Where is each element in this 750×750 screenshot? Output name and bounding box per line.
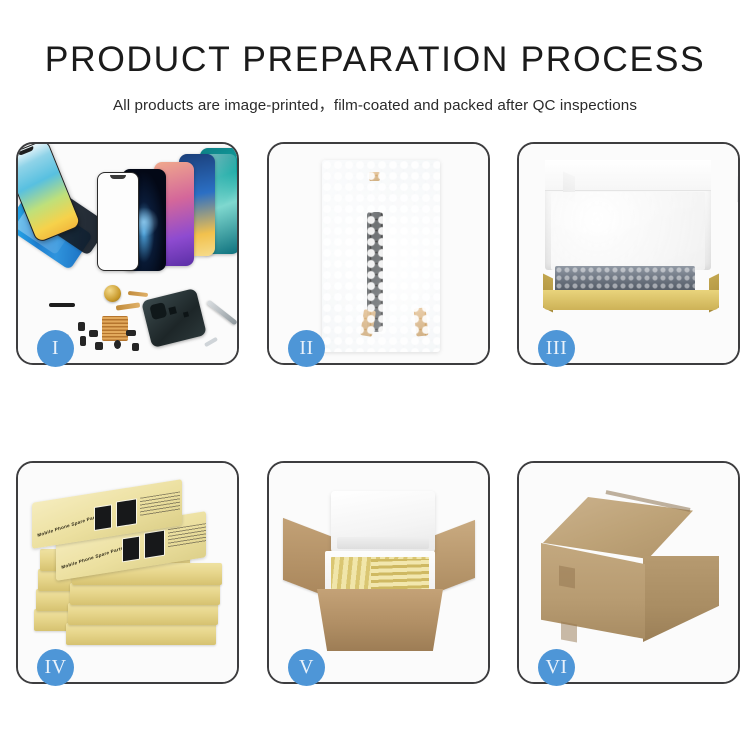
carton-body bbox=[317, 589, 443, 651]
box-screen-image bbox=[122, 536, 140, 563]
step-badge-2: II bbox=[288, 330, 325, 367]
step-badge-4: IV bbox=[37, 649, 74, 686]
small-part bbox=[126, 330, 136, 336]
box-screen-image bbox=[94, 504, 112, 531]
carton-side-face bbox=[643, 556, 719, 642]
small-part bbox=[80, 336, 86, 346]
screw-set-part bbox=[204, 337, 218, 347]
copper-mesh-part bbox=[102, 316, 128, 341]
box-screen-image bbox=[144, 530, 165, 559]
small-part bbox=[78, 322, 85, 331]
small-part bbox=[132, 343, 139, 351]
tweezers-tool-icon bbox=[206, 299, 237, 325]
box-front-panel bbox=[543, 290, 719, 310]
carton-tape-mark bbox=[561, 621, 577, 642]
box-spec-lines bbox=[140, 491, 180, 517]
earpiece-mesh-part bbox=[49, 303, 75, 307]
box-label-text: Mobile Phone Spare Parts bbox=[61, 545, 124, 569]
box-spec-lines bbox=[168, 523, 206, 549]
process-step-grid: I II bbox=[16, 142, 735, 687]
step-badge-5: V bbox=[288, 649, 325, 686]
page-subtitle: All products are image-printed，film-coat… bbox=[0, 78, 750, 115]
page-title: PRODUCT PREPARATION PROCESS bbox=[0, 0, 750, 78]
box-label-text: Mobile Phone Spare Parts bbox=[37, 513, 100, 537]
step-badge-6: VI bbox=[538, 649, 575, 686]
speaker-module-part bbox=[104, 285, 121, 302]
flex-cable-part bbox=[128, 291, 148, 297]
foam-sheet bbox=[551, 192, 705, 270]
step-badge-1: I bbox=[37, 330, 74, 367]
foam-lid-open bbox=[331, 491, 435, 553]
bubble-wrap-bag bbox=[322, 160, 440, 352]
carton-front-face bbox=[541, 543, 645, 639]
tempered-glass-panel bbox=[97, 172, 139, 271]
small-part bbox=[114, 340, 121, 349]
small-part bbox=[89, 330, 98, 337]
phone-back-housing bbox=[141, 288, 207, 348]
lid-flap-right bbox=[737, 172, 740, 203]
stacked-box bbox=[68, 603, 218, 625]
box-screen-image bbox=[116, 498, 137, 527]
stacked-box bbox=[70, 583, 220, 605]
stacked-box bbox=[66, 623, 216, 645]
carton-tape-mark bbox=[559, 565, 575, 588]
flex-cable-part bbox=[116, 302, 140, 310]
step-badge-3: III bbox=[538, 330, 575, 367]
plastic-sheen bbox=[322, 160, 440, 352]
page-header: PRODUCT PREPARATION PROCESS All products… bbox=[0, 0, 750, 115]
small-part bbox=[95, 342, 103, 350]
